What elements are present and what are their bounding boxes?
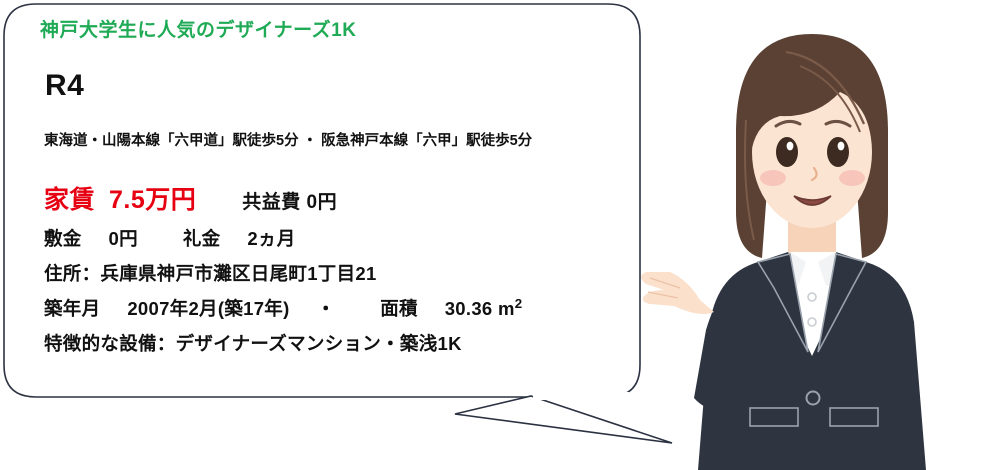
deposit-row: 敷金 0円 礼金 2ヵ月 xyxy=(40,216,620,251)
screenshot-canvas: 神戸大学生に人気のデザイナーズ1K R4 東海道・山陽本線「六甲道」駅徒歩5分 … xyxy=(0,0,982,470)
access-line: 東海道・山陽本線「六甲道」駅徒歩5分 ・ 阪急神戸本線「六甲」駅徒歩5分 xyxy=(40,103,620,150)
area-label: 面積 xyxy=(380,298,418,319)
area-unit-superscript: 2 xyxy=(515,296,523,311)
deposit-value: 0円 xyxy=(109,228,138,249)
bubble-content: 神戸大学生に人気のデザイナーズ1K R4 東海道・山陽本線「六甲道」駅徒歩5分 … xyxy=(40,16,620,376)
features-row: 特徴的な設備：デザイナーズマンション・築浅1K xyxy=(40,321,620,356)
address-row: 住所：兵庫県神戸市灘区日尾町1丁目21 xyxy=(40,251,620,286)
eye-left xyxy=(776,137,798,167)
eye-right xyxy=(827,137,849,167)
cheek-blush-left xyxy=(760,170,786,186)
rent-value: 7.5万円 xyxy=(109,180,196,216)
rent-label: 家賃 xyxy=(44,180,95,216)
built-and-area-row: 築年月 2007年2月(築17年) ・ 面積 30.36 m2 xyxy=(40,286,620,321)
maintenance-fee: 共益費 0円 xyxy=(242,187,337,214)
separator-dot: ・ xyxy=(316,298,335,319)
headline-catchcopy: 神戸大学生に人気のデザイナーズ1K xyxy=(40,16,620,43)
area-value: 30.36 xyxy=(445,298,493,319)
built-label: 築年月 xyxy=(44,298,100,319)
cheek-blush-right xyxy=(839,170,865,186)
eye-highlight-left xyxy=(787,142,794,151)
deposit-label: 敷金 xyxy=(44,228,82,249)
businesswoman-illustration xyxy=(640,0,982,470)
rent-row: 家賃 7.5万円 共益費 0円 xyxy=(40,150,620,216)
built-value: 2007年2月(築17年) xyxy=(127,298,289,319)
page-title: R4 xyxy=(40,43,620,103)
key-money-value: 2ヵ月 xyxy=(247,228,295,249)
area-unit: m xyxy=(498,298,515,319)
key-money-label: 礼金 xyxy=(183,228,221,249)
bubble-tail-seam-mask xyxy=(533,392,629,400)
eye-highlight-right xyxy=(838,142,845,151)
